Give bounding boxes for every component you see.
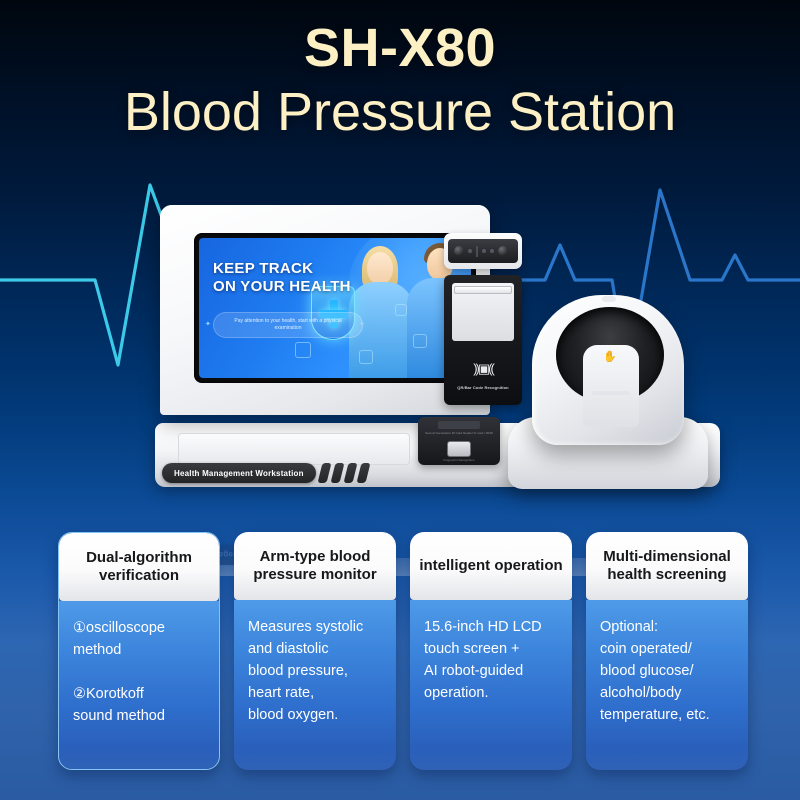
camera-lens-icon-2 (498, 246, 508, 256)
hand-icon: ✋ (602, 352, 618, 366)
page-title: Blood Pressure Station (0, 81, 800, 143)
feature-card-body: ①oscilloscope method ②Korotkoff sound me… (59, 601, 219, 769)
qr-reader-label: QR/Bar Code Recognition (444, 385, 522, 390)
speaker-grille-4 (356, 463, 370, 483)
feature-card-health-screening[interactable]: Multi-dimensional health screening Optio… (586, 532, 748, 770)
id-reader-text: Second Generation ID Card Reader IC card… (418, 431, 500, 436)
sparkle-icon-left: ✦ (205, 320, 211, 328)
ir-sensor-dot-2 (490, 249, 494, 253)
camera-sensor-dot (468, 249, 472, 253)
id-card-reader-module[interactable]: Second Generation ID Card Reader IC card… (418, 417, 500, 465)
speaker-grille-2 (330, 463, 344, 483)
feature-card-title: Multi-dimensional health screening (586, 532, 748, 600)
qr-reader-panel[interactable]: ))▣(( QR/Bar Code Recognition (444, 275, 522, 405)
product-device: ✋ KEE (140, 195, 720, 525)
fingerprint-pad[interactable] (447, 441, 471, 457)
feature-card-intelligent-operation[interactable]: intelligent operation 15.6-inch HD LCD t… (410, 532, 572, 770)
feature-card-body: Measures systolic and diastolic blood pr… (234, 600, 396, 770)
camera-lens-icon (454, 246, 464, 256)
id-reader-display (438, 421, 480, 429)
arm-cuff-tab (592, 391, 630, 395)
camera-module (444, 233, 522, 269)
qr-scan-icon: ))▣(( (464, 357, 502, 381)
speaker-grille-3 (343, 463, 357, 483)
poster-canvas: SH-X80 Blood Pressure Station ✋ (0, 0, 800, 800)
hud-node-4 (395, 304, 407, 316)
monitor-housing: KEEP TRACK ON YOUR HEALTH Pay attention … (160, 205, 490, 415)
printer-slot (454, 286, 512, 294)
front-badge: Health Management Workstation (162, 463, 316, 483)
sparkle-icon-right: ✦ (359, 320, 365, 328)
screen-headline-line1: KEEP TRACK (213, 260, 373, 278)
fingerprint-label: Fingerprint Recognition (418, 458, 500, 462)
model-name: SH-X80 (0, 20, 800, 77)
hud-node-2 (359, 350, 373, 364)
hud-node-1 (295, 342, 311, 358)
camera-divider (476, 246, 478, 257)
title-block: SH-X80 Blood Pressure Station (0, 20, 800, 143)
screen-bezel: KEEP TRACK ON YOUR HEALTH Pay attention … (194, 233, 476, 383)
hud-node-3 (413, 334, 427, 348)
camera-strip (448, 239, 518, 263)
screen-subtitle: Pay attention to your health, start with… (213, 312, 363, 338)
feature-card-title: Arm-type blood pressure monitor (234, 532, 396, 600)
feature-card-body: Optional: coin operated/ blood glucose/ … (586, 600, 748, 770)
screen-headline-line2: ON YOUR HEALTH (213, 278, 373, 296)
feature-card-dual-algorithm[interactable]: Dual-algorithm verification ①oscilloscop… (58, 532, 220, 770)
screen-headline: KEEP TRACK ON YOUR HEALTH (213, 260, 373, 296)
speaker-grille-1 (317, 463, 331, 483)
feature-card-title: Dual-algorithm verification (59, 533, 219, 601)
feature-card-body: 15.6-inch HD LCD touch screen + AI robot… (410, 600, 572, 770)
feature-card-title: intelligent operation (410, 532, 572, 600)
feature-card-list: Dual-algorithm verification ①oscilloscop… (58, 532, 748, 772)
front-bar: Health Management Workstation (162, 460, 422, 486)
touch-screen[interactable]: KEEP TRACK ON YOUR HEALTH Pay attention … (199, 238, 471, 378)
ir-sensor-dot (482, 249, 486, 253)
arm-cuff-indicator (602, 296, 616, 302)
feature-card-arm-type-monitor[interactable]: Arm-type blood pressure monitor Measures… (234, 532, 396, 770)
